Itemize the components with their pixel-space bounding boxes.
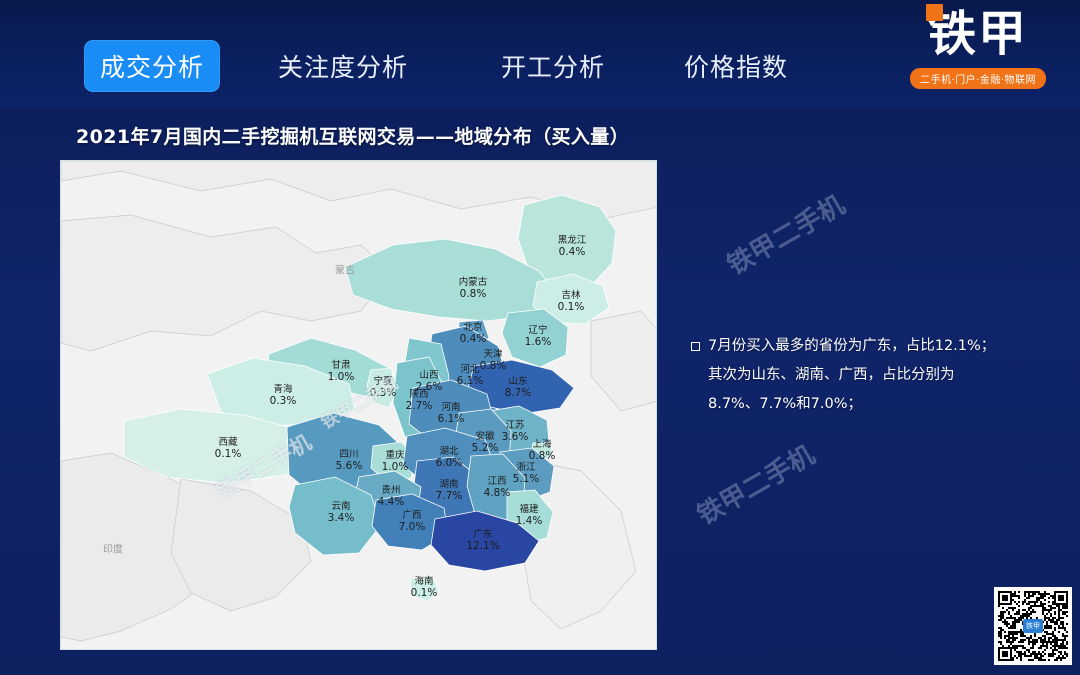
insight-note: 7月份买入最多的省份为广东，占比12.1%； 其次为山东、湖南、广西，占比分别为… (708, 332, 1056, 419)
tab-startup-analysis[interactable]: 开工分析 (485, 40, 621, 92)
note-line-2: 其次为山东、湖南、广西，占比分别为 (708, 361, 1056, 390)
logo-text: 铁甲 (928, 8, 1028, 62)
tab-attention-analysis[interactable]: 关注度分析 (262, 40, 424, 92)
bullet-square-icon (691, 342, 700, 351)
slide-watermark-1: 铁甲二手机 (719, 185, 850, 282)
brand-logo: 铁甲 二手机·门户·金融·物联网 (904, 8, 1052, 104)
qr-code[interactable]: 铁甲 (994, 587, 1072, 665)
logo-accent-mark (926, 4, 943, 21)
qr-center-logo: 铁甲 (1023, 619, 1043, 633)
tab-price-index[interactable]: 价格指数 (668, 40, 804, 92)
map-vector-layer (61, 161, 657, 650)
page-title: 2021年7月国内二手挖掘机互联网交易——地域分布（买入量） (76, 122, 629, 149)
slide-root: 成交分析 关注度分析 开工分析 价格指数 铁甲 二手机·门户·金融·物联网 20… (0, 0, 1080, 675)
top-navigation-bar: 成交分析 关注度分析 开工分析 价格指数 铁甲 二手机·门户·金融·物联网 (0, 0, 1080, 108)
note-line-3: 8.7%、7.7%和7.0%； (708, 390, 1056, 419)
tab-transaction-analysis[interactable]: 成交分析 (84, 40, 220, 92)
logo-tagline-badge: 二手机·门户·金融·物联网 (910, 68, 1046, 89)
china-choropleth-map[interactable]: 黑龙江0.4%内蒙古0.8%吉林0.1%辽宁1.6%北京0.4%天津0.8%河北… (60, 160, 657, 650)
note-line-1: 7月份买入最多的省份为广东，占比12.1%； (708, 332, 1056, 361)
slide-watermark-2: 铁甲二手机 (689, 435, 820, 532)
logo-wordmark: 铁甲 (928, 6, 1028, 62)
